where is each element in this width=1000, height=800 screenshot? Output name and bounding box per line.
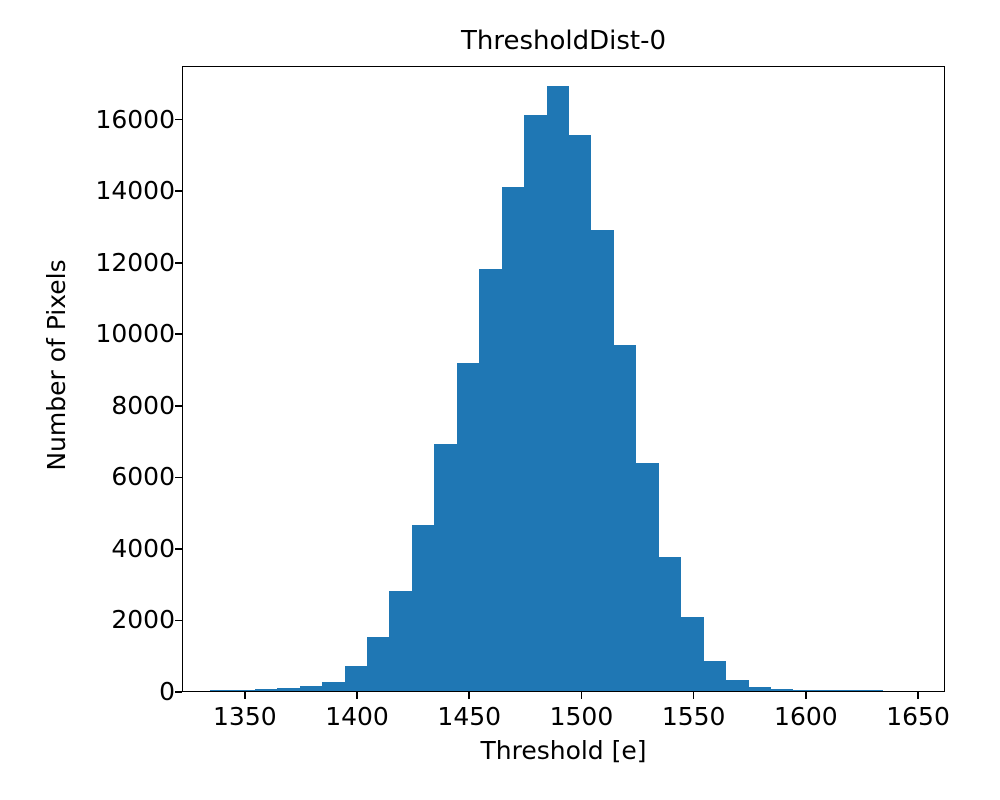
x-tick-label: 1600 xyxy=(751,702,861,732)
y-tick-mark xyxy=(175,477,182,479)
y-axis-label-wrapper: Number of Pixels xyxy=(22,0,52,760)
histogram-bar xyxy=(479,269,501,691)
histogram-bar xyxy=(345,666,367,691)
x-tick-label: 1500 xyxy=(526,702,636,732)
histogram-bar xyxy=(816,690,838,691)
x-axis-label: Threshold [e] xyxy=(182,736,945,766)
histogram-bar xyxy=(614,345,636,691)
histogram-bar xyxy=(389,591,411,691)
y-tick-mark xyxy=(175,262,182,264)
histogram-bar xyxy=(861,690,883,691)
x-tick-mark xyxy=(581,692,583,699)
histogram-bar xyxy=(547,86,569,691)
y-tick-mark xyxy=(175,691,182,693)
y-tick-mark xyxy=(175,620,182,622)
y-tick-mark xyxy=(175,190,182,192)
histogram-bars xyxy=(183,67,944,691)
histogram-bar xyxy=(591,230,613,691)
y-axis-label: Number of Pixels xyxy=(42,215,72,515)
plot-area xyxy=(182,66,945,692)
histogram-bar xyxy=(300,686,322,691)
histogram-bar xyxy=(502,187,524,691)
histogram-bar xyxy=(681,617,703,691)
x-tick-label: 1650 xyxy=(863,702,973,732)
histogram-bar xyxy=(367,637,389,691)
x-tick-mark xyxy=(244,692,246,699)
chart-title: ThresholdDist-0 xyxy=(182,26,945,56)
x-tick-label: 1400 xyxy=(302,702,412,732)
histogram-bar xyxy=(771,689,793,691)
y-tick-mark xyxy=(175,405,182,407)
histogram-bar xyxy=(412,525,434,691)
y-tick-mark xyxy=(175,119,182,121)
x-tick-label: 1550 xyxy=(639,702,749,732)
x-tick-label: 1350 xyxy=(190,702,300,732)
histogram-bar xyxy=(255,689,277,691)
y-tick-mark xyxy=(175,548,182,550)
y-tick-mark xyxy=(175,333,182,335)
histogram-bar xyxy=(232,690,254,691)
histogram-bar xyxy=(434,444,456,691)
x-tick-mark xyxy=(805,692,807,699)
histogram-bar xyxy=(636,463,658,691)
histogram-bar xyxy=(749,687,771,691)
histogram-figure: ThresholdDist-0 135014001450150015501600… xyxy=(0,0,1000,800)
histogram-bar xyxy=(210,690,232,691)
histogram-bar xyxy=(704,661,726,691)
histogram-bar xyxy=(569,135,591,691)
x-tick-mark xyxy=(356,692,358,699)
histogram-bar xyxy=(322,682,344,691)
histogram-bar xyxy=(457,363,479,691)
x-tick-mark xyxy=(468,692,470,699)
histogram-bar xyxy=(524,115,546,691)
histogram-bar xyxy=(659,557,681,691)
histogram-bar xyxy=(838,690,860,691)
histogram-bar xyxy=(793,690,815,691)
x-tick-label: 1450 xyxy=(414,702,524,732)
histogram-bar xyxy=(277,688,299,691)
x-tick-mark xyxy=(917,692,919,699)
x-tick-mark xyxy=(693,692,695,699)
histogram-bar xyxy=(726,680,748,691)
